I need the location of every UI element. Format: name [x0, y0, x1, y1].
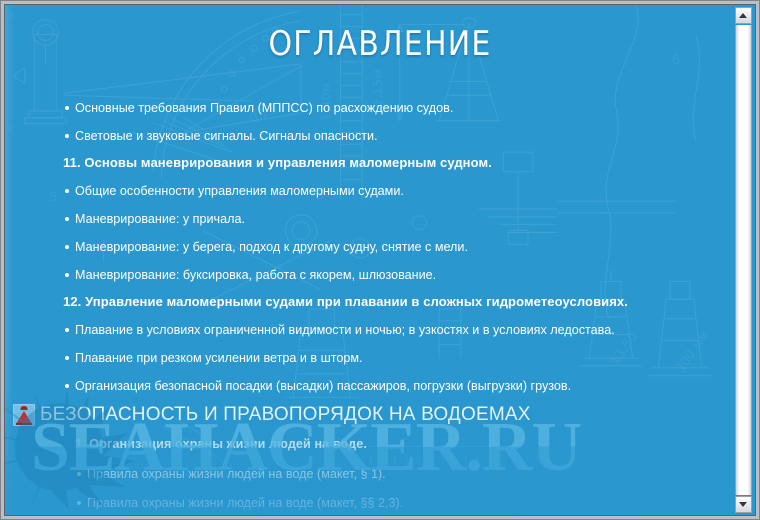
scrollbar-track[interactable] [735, 25, 752, 495]
list-item[interactable]: Маневрирование: буксировка, работа с яко… [5, 268, 729, 282]
section-heading[interactable]: 12. Управление маломерными судами при пл… [5, 294, 729, 309]
list-item[interactable]: Световые и звуковые сигналы. Сигналы опа… [5, 129, 729, 143]
list-item[interactable]: Маневрирование: у причала. [5, 212, 729, 226]
list-item[interactable]: Правила охраны жизни людей на воде (маке… [5, 496, 729, 510]
buoy-icon [13, 404, 35, 426]
vertical-scrollbar[interactable] [732, 6, 754, 514]
table-of-contents-list: Основные требования Правил (МППСС) по ра… [5, 87, 729, 511]
page-title: ОГЛАВЛЕНИЕ [5, 25, 755, 64]
list-item[interactable]: Маневрирование: у берега, подход к друго… [5, 240, 729, 254]
slide-viewport: 2,15м 1,40м 0,25 2 3 5 б 300 мм 13,50 ОГ… [4, 4, 756, 516]
major-section-label: БЕЗОПАСНОСТЬ И ПРАВОПОРЯДОК НА ВОДОЕМАХ [40, 404, 531, 426]
scroll-up-arrow[interactable] [735, 7, 752, 24]
scroll-down-arrow[interactable] [735, 496, 752, 513]
list-item[interactable]: Правила охраны жизни людей на воде (маке… [5, 467, 729, 481]
list-item[interactable]: Плавание в условиях ограниченной видимос… [5, 323, 729, 337]
major-section-heading[interactable]: БЕЗОПАСНОСТЬ И ПРАВОПОРЯДОК НА ВОДОЕМАХ [5, 404, 729, 426]
list-item[interactable]: Основные требования Правил (МППСС) по ра… [5, 101, 729, 115]
section-heading[interactable]: 1. Организация охраны жизни людей на вод… [5, 437, 729, 452]
list-item[interactable]: Организация безопасной посадки (высадки)… [5, 379, 729, 393]
list-item[interactable]: Плавание при резком усилении ветра и в ш… [5, 351, 729, 365]
slide-surface: 2,15м 1,40м 0,25 2 3 5 б 300 мм 13,50 ОГ… [5, 5, 755, 515]
presentation-window: 2,15м 1,40м 0,25 2 3 5 б 300 мм 13,50 ОГ… [0, 0, 760, 520]
list-item[interactable]: Общие особенности управления маломерными… [5, 184, 729, 198]
section-heading[interactable]: 11. Основы маневрирования и управления м… [5, 155, 729, 170]
